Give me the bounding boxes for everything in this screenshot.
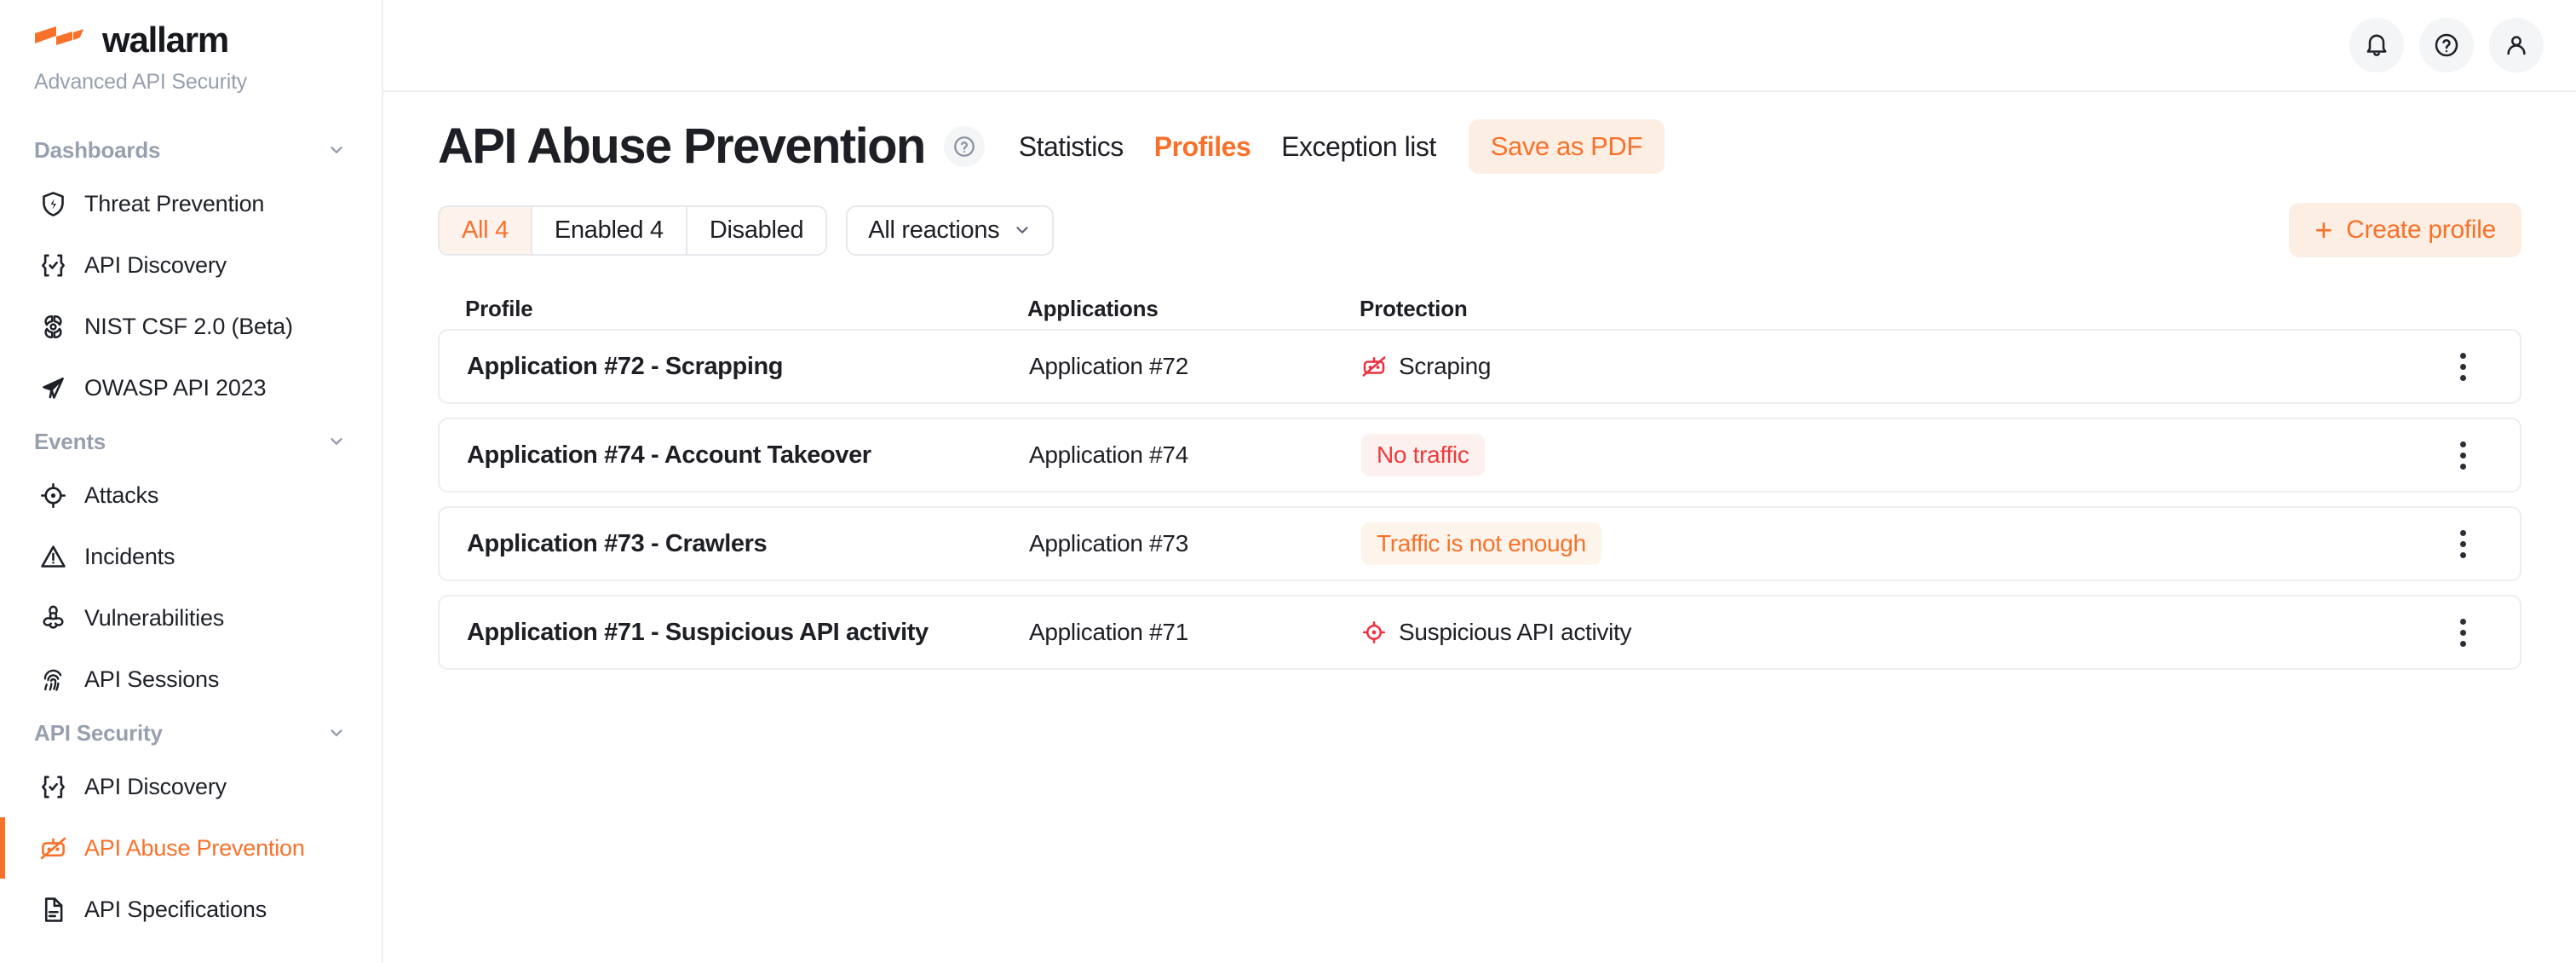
sidebar-group-title: Dashboards bbox=[34, 137, 160, 164]
table-header-row: Profile Applications Protection bbox=[438, 288, 2521, 329]
nist-pinwheel-icon bbox=[39, 313, 67, 341]
braces-check-icon bbox=[39, 251, 67, 280]
wallarm-logo-icon bbox=[34, 26, 90, 55]
sidebar-group-title: Events bbox=[34, 429, 106, 455]
bell-icon[interactable] bbox=[2349, 18, 2404, 72]
sidebar-item-api-discovery-dashboards[interactable]: API Discovery bbox=[0, 234, 382, 296]
tab-profiles[interactable]: Profiles bbox=[1139, 131, 1266, 163]
sidebar-item-label: API Abuse Prevention bbox=[84, 835, 305, 862]
row-application: Application #71 bbox=[1029, 619, 1361, 646]
sidebar-item-api-abuse-prevention[interactable]: API Abuse Prevention bbox=[0, 817, 382, 879]
table-row[interactable]: Application #72 - Scrapping Application … bbox=[438, 329, 2521, 404]
sidebar-item-vulnerabilities[interactable]: Vulnerabilities bbox=[0, 587, 382, 649]
row-protection: Traffic is not enough bbox=[1361, 522, 2433, 565]
sidebar-item-label: API Discovery bbox=[84, 774, 227, 800]
sidebar-item-label: API Sessions bbox=[84, 666, 219, 693]
column-header-profile: Profile bbox=[465, 296, 1027, 322]
sidebar-item-api-sessions[interactable]: API Sessions bbox=[0, 649, 382, 710]
filter-enabled[interactable]: Enabled 4 bbox=[532, 207, 687, 254]
sidebar-item-label: NIST CSF 2.0 (Beta) bbox=[84, 314, 293, 340]
filter-disabled[interactable]: Disabled bbox=[687, 207, 825, 254]
tab-statistics[interactable]: Statistics bbox=[1003, 131, 1139, 163]
page-title: API Abuse Prevention bbox=[438, 119, 925, 174]
warning-triangle-icon bbox=[39, 543, 67, 571]
sidebar-item-label: Threat Prevention bbox=[84, 191, 264, 217]
row-application: Application #74 bbox=[1029, 441, 1361, 469]
sidebar: wallarm Advanced API Security Dashboards… bbox=[0, 0, 383, 963]
robot-slash-icon bbox=[1361, 354, 1387, 379]
page-help-icon[interactable] bbox=[944, 126, 985, 167]
brand-tagline: Advanced API Security bbox=[34, 70, 348, 95]
document-icon bbox=[39, 896, 67, 924]
status-badge: Traffic is not enough bbox=[1361, 522, 1601, 565]
braces-check-icon bbox=[39, 773, 67, 801]
sidebar-item-owasp-api[interactable]: OWASP API 2023 bbox=[0, 357, 382, 418]
brand-name: wallarm bbox=[102, 22, 228, 58]
row-application: Application #72 bbox=[1029, 353, 1361, 380]
row-protection-label: Suspicious API activity bbox=[1399, 619, 1631, 646]
top-bar bbox=[383, 0, 2576, 92]
crosshair-icon bbox=[1361, 620, 1387, 645]
row-profile-name: Application #71 - Suspicious API activit… bbox=[467, 619, 1029, 647]
filter-all[interactable]: All 4 bbox=[440, 207, 532, 254]
row-protection-label: Scraping bbox=[1399, 353, 1491, 380]
kebab-menu-icon[interactable] bbox=[2444, 348, 2481, 385]
chevron-down-icon[interactable] bbox=[327, 432, 346, 451]
kebab-menu-icon[interactable] bbox=[2444, 614, 2481, 651]
biohazard-icon bbox=[39, 604, 67, 632]
sidebar-item-incidents[interactable]: Incidents bbox=[0, 526, 382, 587]
sidebar-item-api-discovery-security[interactable]: API Discovery bbox=[0, 756, 382, 817]
sidebar-nav: Dashboards Threat Prevention API Discove… bbox=[0, 127, 382, 940]
shield-bolt-icon bbox=[39, 190, 67, 218]
sidebar-item-label: Vulnerabilities bbox=[84, 605, 224, 631]
table-row[interactable]: Application #71 - Suspicious API activit… bbox=[438, 595, 2521, 670]
crosshair-icon bbox=[39, 481, 67, 510]
row-application: Application #73 bbox=[1029, 530, 1361, 557]
column-header-protection: Protection bbox=[1360, 296, 2435, 322]
sidebar-item-label: Attacks bbox=[84, 482, 158, 509]
table-row[interactable]: Application #73 - Crawlers Application #… bbox=[438, 506, 2521, 581]
sidebar-item-attacks[interactable]: Attacks bbox=[0, 464, 382, 526]
sidebar-group-dashboards[interactable]: Dashboards bbox=[0, 127, 382, 173]
create-profile-label: Create profile bbox=[2346, 216, 2496, 245]
chevron-down-icon[interactable] bbox=[327, 724, 346, 742]
kebab-menu-icon[interactable] bbox=[2444, 436, 2481, 474]
question-circle-icon[interactable] bbox=[2419, 18, 2474, 72]
sidebar-item-api-specifications[interactable]: API Specifications bbox=[0, 879, 382, 940]
app-root: wallarm Advanced API Security Dashboards… bbox=[0, 0, 2576, 963]
page-header: API Abuse Prevention Statistics Profiles… bbox=[383, 92, 2576, 174]
sidebar-group-api-security[interactable]: API Security bbox=[0, 710, 382, 756]
sidebar-item-nist-csf[interactable]: NIST CSF 2.0 (Beta) bbox=[0, 296, 382, 357]
row-protection: No traffic bbox=[1361, 434, 2433, 476]
sidebar-item-label: API Specifications bbox=[84, 897, 267, 923]
column-header-applications: Applications bbox=[1027, 296, 1360, 322]
filters-left: All 4 Enabled 4 Disabled All reactions bbox=[438, 205, 1054, 256]
row-profile-name: Application #72 - Scrapping bbox=[467, 353, 1029, 381]
status-badge: No traffic bbox=[1361, 434, 1485, 476]
create-profile-button[interactable]: + Create profile bbox=[2289, 203, 2521, 257]
kebab-menu-icon[interactable] bbox=[2444, 525, 2481, 562]
paper-plane-icon bbox=[39, 374, 67, 402]
fingerprint-icon bbox=[39, 666, 67, 694]
user-icon[interactable] bbox=[2489, 18, 2544, 72]
reactions-select[interactable]: All reactions bbox=[846, 205, 1054, 256]
profiles-table: Profile Applications Protection Applicat… bbox=[383, 288, 2576, 683]
row-protection: Scraping bbox=[1361, 353, 2433, 380]
robot-slash-icon bbox=[39, 834, 67, 862]
row-profile-name: Application #74 - Account Takeover bbox=[467, 441, 1029, 470]
table-row[interactable]: Application #74 - Account Takeover Appli… bbox=[438, 418, 2521, 493]
sidebar-item-label: OWASP API 2023 bbox=[84, 375, 266, 401]
sidebar-group-title: API Security bbox=[34, 720, 163, 747]
brand[interactable]: wallarm Advanced API Security bbox=[0, 22, 382, 95]
row-protection: Suspicious API activity bbox=[1361, 619, 2433, 646]
filters-row: All 4 Enabled 4 Disabled All reactions +… bbox=[383, 174, 2576, 257]
save-as-pdf-button[interactable]: Save as PDF bbox=[1469, 119, 1665, 174]
plus-icon: + bbox=[2314, 215, 2332, 245]
main-content: API Abuse Prevention Statistics Profiles… bbox=[383, 0, 2576, 963]
chevron-down-icon bbox=[1013, 221, 1032, 239]
sidebar-item-threat-prevention[interactable]: Threat Prevention bbox=[0, 173, 382, 234]
row-profile-name: Application #73 - Crawlers bbox=[467, 530, 1029, 558]
tab-exception-list[interactable]: Exception list bbox=[1266, 131, 1452, 163]
reactions-select-value: All reactions bbox=[868, 216, 999, 245]
chevron-down-icon[interactable] bbox=[327, 141, 346, 159]
page-tabs: Statistics Profiles Exception list bbox=[1003, 131, 1452, 163]
status-filter-group: All 4 Enabled 4 Disabled bbox=[438, 205, 827, 256]
sidebar-item-label: API Discovery bbox=[84, 252, 227, 279]
sidebar-group-events[interactable]: Events bbox=[0, 418, 382, 464]
sidebar-item-label: Incidents bbox=[84, 544, 175, 570]
